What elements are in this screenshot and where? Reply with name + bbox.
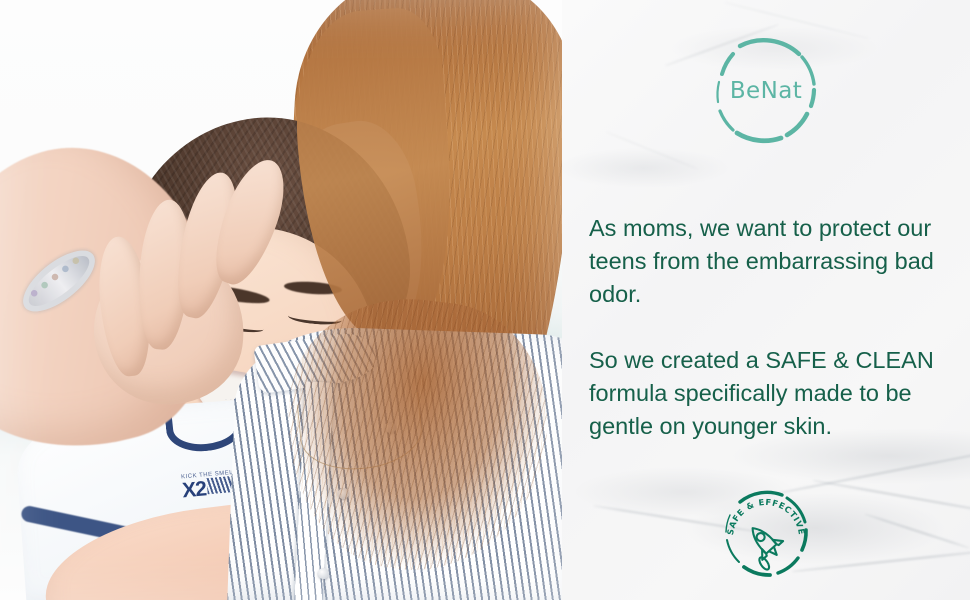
promo-banner: KICK THE SMELL X2	[0, 0, 970, 600]
copy-paragraph-2: So we created a SAFE & CLEAN formula spe…	[589, 344, 959, 443]
shirt-button	[318, 568, 329, 579]
info-panel: BeNat As moms, we want to protect our te…	[562, 0, 970, 600]
brand-logo: BeNat	[707, 32, 825, 150]
brand-name: BeNat	[707, 32, 825, 150]
hero-photo: KICK THE SMELL X2	[0, 0, 562, 600]
copy-paragraph-1: As moms, we want to protect our teens fr…	[589, 212, 959, 311]
mother-hand	[80, 135, 343, 415]
rocket-icon	[738, 519, 790, 572]
paragraph-spacer	[589, 311, 959, 344]
badge-stamp-icon: SAFE & EFFECTIVE	[720, 488, 812, 580]
shirt-logo-main-text: X2	[181, 478, 206, 501]
safe-effective-badge: SAFE & EFFECTIVE	[720, 488, 812, 580]
marketing-copy: As moms, we want to protect our teens fr…	[589, 212, 959, 443]
